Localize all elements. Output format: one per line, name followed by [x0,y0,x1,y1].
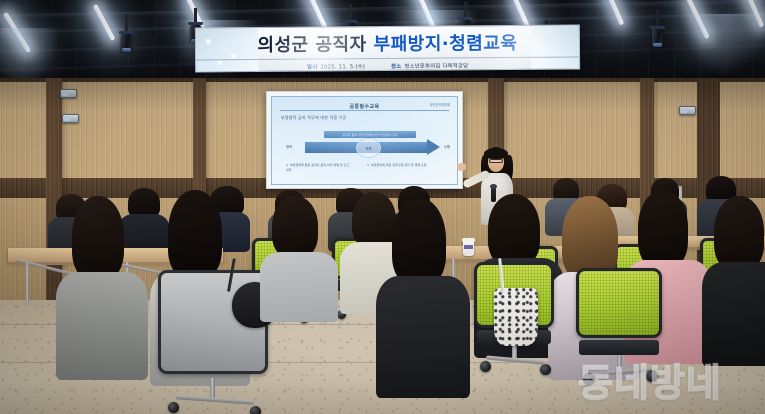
slide-title: 공통필수교육 [349,103,379,110]
slide-note-left-text: 부정청탁을 받은 공직자 등의 처리 방법 및 신고 의무 [286,163,349,172]
tote-bag-patterned [494,288,538,346]
slide-lead-text: 부정청탁 금지 직무에 대한 적용 기준 [281,115,347,121]
projection-screen: 공통필수교육 국민권익위원회 부정청탁 금지 직무에 대한 적용 기준 공직자 … [266,91,463,189]
slide-circle-label: 직무 [365,146,371,151]
chair-foreground-right-2 [576,268,662,378]
slide-arrow-left-label: 청탁 [286,144,292,149]
coffee-cup [463,240,474,256]
slide-note-left: ▪부정청탁을 받은 공직자 등의 처리 방법 및 신고 의무 [286,163,352,172]
presenter-glasses-icon [489,159,503,163]
event-banner: 의성군 공직자 부패방지·청렴교육 일시2025. 11. 5.(수) 장소청소… [195,24,580,72]
seminar-hall-photo: 의성군 공직자 부패방지·청렴교육 일시2025. 11. 5.(수) 장소청소… [0,0,765,414]
slide-center-circle: 직무 [356,138,381,158]
slide-bar-label: 공직자 등의 직무수행에 관한 부정청탁 금지 [342,133,397,137]
stage-spotlight-icon [652,10,663,52]
slide-top-bar: 공직자 등의 직무수행에 관한 부정청탁 금지 [324,131,416,138]
slide-arrow-right-label: 수행 [444,144,450,149]
slide-note-right-text: 부정청탁에 따른 직무수행 금지 및 제재 규정 [371,163,426,167]
stage-spotlight-icon [121,14,132,54]
slide-note-right: ▪부정청탁에 따른 직무수행 금지 및 제재 규정 [367,163,433,168]
presenter-bangs [484,148,508,159]
banner-glare [196,25,579,71]
microphone-icon [491,187,496,202]
slide-logo: 국민권익위원회 [429,102,450,107]
slide-title-bar: 공통필수교육 [280,102,449,111]
presentation-slide: 공통필수교육 국민권익위원회 부정청탁 금지 직무에 대한 적용 기준 공직자 … [271,96,458,185]
presenter-hand [457,163,466,171]
